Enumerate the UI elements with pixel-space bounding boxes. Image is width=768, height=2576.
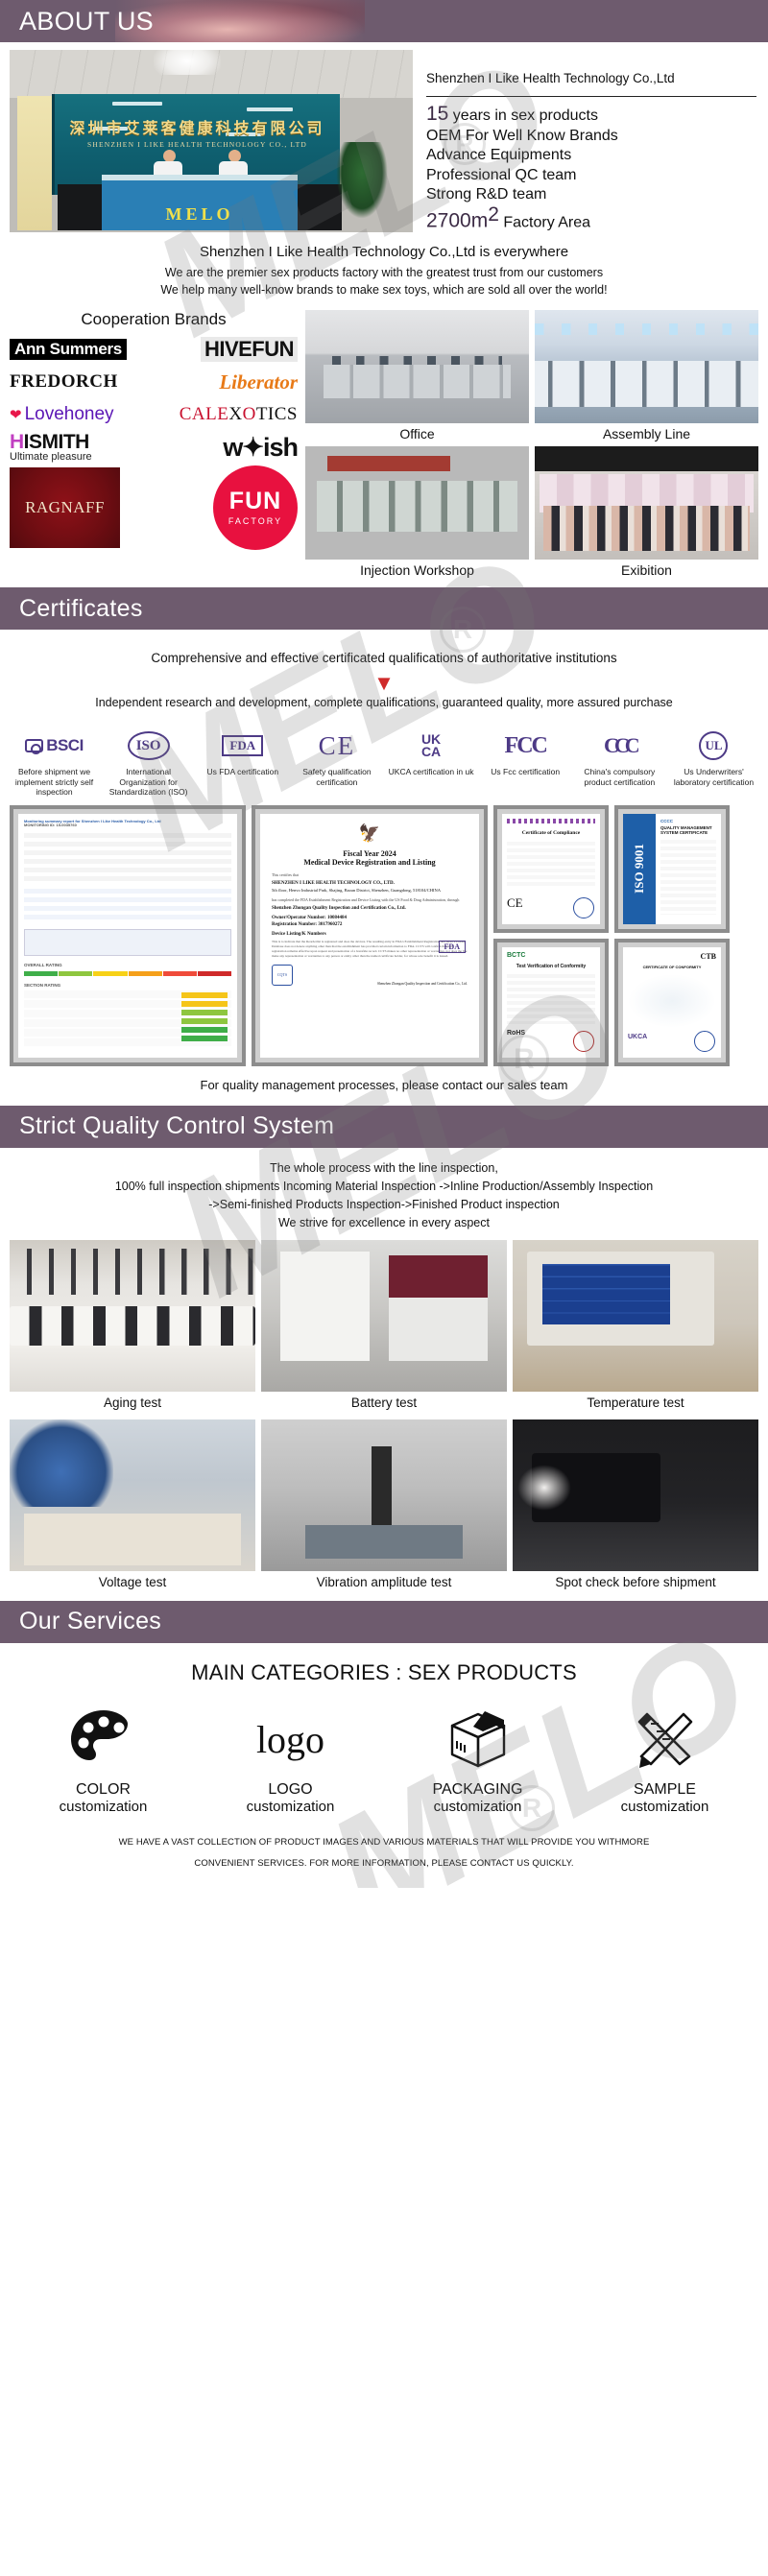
caption-aging-test: Aging test bbox=[10, 1392, 255, 1416]
office-reception-photo: 深圳市艾莱客健康科技有限公司 SHENZHEN I LIKE HEALTH TE… bbox=[10, 50, 413, 232]
highlight-2: Advance Equipments bbox=[426, 146, 768, 166]
brand-logo-lovehoney-text: Lovehoney bbox=[25, 404, 114, 425]
photo-exhibition bbox=[535, 446, 758, 560]
qc-cell-vibration: Vibration amplitude test bbox=[261, 1419, 507, 1595]
services-footer: WE HAVE A VAST COLLECTION OF PRODUCT IMA… bbox=[0, 1819, 768, 1888]
highlight-4: Strong R&D team bbox=[426, 185, 768, 205]
service-packaging-customization[interactable]: PACKAGING customization bbox=[384, 1699, 571, 1815]
iso-icon: ISO bbox=[102, 727, 195, 765]
qc-description: The whole process with the line inspecti… bbox=[0, 1148, 768, 1240]
services-footer-line2: CONVENIENT SERVICES. FOR MORE INFORMATIO… bbox=[12, 1853, 756, 1874]
services-main-categories-title: MAIN CATEGORIES : SEX PRODUCTS bbox=[0, 1643, 768, 1699]
heart-icon: ❤ bbox=[10, 406, 22, 423]
logo-text-icon: logo bbox=[197, 1699, 384, 1781]
highlight-5-area: 2700m bbox=[426, 209, 488, 231]
brand-logo-wish: w✦ish bbox=[223, 433, 298, 463]
certificate-small-column-1: Certificate of Compliance CE BCTC Test V… bbox=[493, 805, 609, 1066]
cert-icon-ul-desc: Us Underwriters' laboratory certificatio… bbox=[667, 767, 760, 787]
brand-logo-hismith: HISMITH Ultimate pleasure bbox=[10, 432, 92, 463]
fda-company-name: SHENZHEN I LIKE HEALTH TECHNOLOGY CO., L… bbox=[272, 881, 468, 886]
photo-office bbox=[305, 310, 529, 423]
factory-cell-office: Office bbox=[305, 310, 529, 441]
service-packaging-line1: PACKAGING bbox=[384, 1781, 571, 1799]
ul-icon: UL bbox=[667, 727, 760, 765]
fda-fiscal-year: Fiscal Year 2024 bbox=[270, 849, 469, 858]
caption-temperature-test: Temperature test bbox=[513, 1392, 758, 1416]
photo-vibration-test bbox=[261, 1419, 507, 1571]
palette-icon bbox=[10, 1699, 197, 1781]
eagle-icon: 🦅 bbox=[270, 823, 469, 844]
bsci-icon: BSCI bbox=[8, 727, 101, 765]
cert-icon-fda-desc: Us FDA certification bbox=[196, 767, 289, 777]
amfori-rating-bars bbox=[24, 971, 231, 976]
cert-icon-fcc: FCC Us Fcc certification bbox=[479, 727, 572, 798]
service-color-line2: customization bbox=[10, 1799, 197, 1815]
brand-logo-ragnaff: RAGNAFF bbox=[10, 467, 120, 548]
service-logo-customization[interactable]: logo LOGO customization bbox=[197, 1699, 384, 1815]
section-banner-about: ABOUT US bbox=[0, 0, 768, 42]
photo-injection-workshop bbox=[305, 446, 529, 560]
photo-aging-test bbox=[10, 1240, 255, 1392]
bctc-content: BCTC Test Verification of Conformity RoH… bbox=[502, 947, 600, 1058]
cert-icon-ccc: CCC China's compulsory product certifica… bbox=[573, 727, 666, 798]
highlight-0-text: years in sex products bbox=[448, 107, 598, 124]
highlight-5: 2700m2 Factory Area bbox=[426, 205, 768, 233]
iso9001-content: ISO 9001 CCCC QUALITY MANAGEMENT SYSTEM … bbox=[623, 814, 721, 924]
brand-logo-lovehoney: ❤ Lovehoney bbox=[10, 404, 114, 425]
cert-icon-iso: ISO International Organization for Stand… bbox=[102, 727, 195, 798]
cert-icon-bsci: BSCI Before shipment we implement strict… bbox=[8, 727, 101, 798]
services-footer-line1: WE HAVE A VAST COLLECTION OF PRODUCT IMA… bbox=[12, 1832, 756, 1853]
brand-logo-hismith-tagline: Ultimate pleasure bbox=[10, 452, 92, 463]
factory-cell-injection: Injection Workshop bbox=[305, 446, 529, 578]
qc-cell-voltage: Voltage test bbox=[10, 1419, 255, 1595]
about-tagline: Shenzhen I Like Health Technology Co.,Lt… bbox=[0, 232, 768, 264]
brand-logo-hismith-text: HISMITH bbox=[10, 432, 92, 452]
iso9001-code: ISO 9001 bbox=[632, 845, 647, 894]
certificate-ctb-conformity[interactable]: CTB CERTIFICATE OF CONFORMITY UKCA bbox=[614, 939, 730, 1066]
cert-icon-ce-desc: Safety qualification certification bbox=[290, 767, 383, 787]
about-subtext-line2: We help many well-know brands to make se… bbox=[0, 281, 768, 298]
section-title-qc: Strict Quality Control System bbox=[0, 1114, 334, 1138]
cert-icon-ccc-desc: China's compulsory product certification bbox=[573, 767, 666, 787]
chevron-down-icon: ▼ bbox=[0, 665, 768, 696]
cert-icon-iso-desc: International Organization for Standardi… bbox=[102, 767, 195, 798]
brand-logo-fun-line2: FACTORY bbox=[228, 516, 282, 526]
fda-device-listing: Device Listing/K Numbers bbox=[272, 932, 468, 937]
divider bbox=[426, 96, 756, 97]
certificates-footer: For quality management processes, please… bbox=[0, 1066, 768, 1106]
ctb-title: CERTIFICATE OF CONFORMITY bbox=[628, 965, 716, 969]
cert-icon-fcc-desc: Us Fcc certification bbox=[479, 767, 572, 777]
certification-icon-row: BSCI Before shipment we implement strict… bbox=[0, 717, 768, 798]
red-seal-icon bbox=[573, 1031, 594, 1052]
cert-icon-ukca-desc: UKCA certification in uk bbox=[385, 767, 478, 777]
section-title-certificates: Certificates bbox=[0, 597, 143, 621]
cert-icon-ukca: UKCA UKCA certification in uk bbox=[385, 727, 478, 798]
qc-cell-temperature: Temperature test bbox=[513, 1240, 758, 1416]
about-subtext: We are the premier sex products factory … bbox=[0, 264, 768, 304]
service-sample-line1: SAMPLE bbox=[571, 1781, 758, 1799]
wall-yellow-panel bbox=[17, 96, 52, 230]
section-banner-certificates: Certificates bbox=[0, 587, 768, 630]
iso9001-title: QUALITY MANAGEMENT SYSTEM CERTIFICATE bbox=[660, 825, 716, 835]
reception-desk: MELO bbox=[102, 175, 298, 230]
service-color-line1: COLOR bbox=[10, 1781, 197, 1799]
cabinet-left bbox=[58, 184, 102, 230]
amfori-section-rating: SECTION RATING bbox=[24, 984, 231, 988]
service-sample-customization[interactable]: SAMPLE customization bbox=[571, 1699, 758, 1815]
ce-icon: CE bbox=[290, 727, 383, 765]
certificates-subtext: Independent research and development, co… bbox=[0, 696, 768, 717]
brands-and-factory-block: Cooperation Brands Ann Summers HIVEFUN F… bbox=[0, 304, 768, 587]
fda-doc-title: Medical Device Registration and Listing bbox=[270, 858, 469, 867]
brand-logo-hivefun: HIVEFUN bbox=[201, 337, 298, 362]
section-title-services: Our Services bbox=[0, 1610, 161, 1634]
signage-chinese-text: 深圳市艾莱客健康科技有限公司 bbox=[55, 115, 340, 138]
amfori-overall-rating: OVERALL RATING bbox=[24, 964, 231, 967]
certificates-intro: Comprehensive and effective certificated… bbox=[0, 630, 768, 665]
certificate-small-column-2: ISO 9001 CCCC QUALITY MANAGEMENT SYSTEM … bbox=[614, 805, 730, 1066]
ukca-icon: UKCA bbox=[385, 727, 478, 765]
brand-row-3: ❤ Lovehoney CALEXOTICS bbox=[10, 398, 298, 431]
photo-temperature-test bbox=[513, 1240, 758, 1392]
pencil-ruler-icon bbox=[571, 1699, 758, 1781]
about-subtext-line1: We are the premier sex products factory … bbox=[0, 264, 768, 281]
desk-logo-text: MELO bbox=[102, 204, 298, 225]
factory-cell-assembly: Assembly Line bbox=[535, 310, 758, 441]
amfori-doc-body: Monitoring summary report for Shenzhen I… bbox=[18, 814, 237, 1054]
service-packaging-line2: customization bbox=[384, 1799, 571, 1815]
qc-line-1: The whole process with the line inspecti… bbox=[10, 1159, 758, 1178]
certificate-fda-registration[interactable]: 🦅 Fiscal Year 2024 Medical Device Regist… bbox=[252, 805, 488, 1066]
page-root: ABOUT US 深圳市艾莱客健康科技有限公司 SHENZHEN I LIKE … bbox=[0, 0, 768, 1888]
caption-spot-check: Spot check before shipment bbox=[513, 1571, 758, 1595]
caption-assembly-line: Assembly Line bbox=[535, 423, 758, 441]
certificate-bctc-test[interactable]: BCTC Test Verification of Conformity RoH… bbox=[493, 939, 609, 1066]
qc-cell-battery: Battery test bbox=[261, 1240, 507, 1416]
brand-row-5: RAGNAFF FUN FACTORY bbox=[10, 464, 298, 552]
brand-logo-calexotics: CALEXOTICS bbox=[180, 404, 298, 425]
brand-logo-fredorch: FREDORCH bbox=[10, 371, 118, 393]
caption-vibration-test: Vibration amplitude test bbox=[261, 1571, 507, 1595]
caption-battery-test: Battery test bbox=[261, 1392, 507, 1416]
brand-logo-fun-line1: FUN bbox=[229, 489, 281, 513]
seal-icon bbox=[573, 897, 594, 918]
fda-owner-number: Owner/Operator Number: 10084484 bbox=[272, 916, 468, 920]
photo-voltage-test bbox=[10, 1419, 255, 1571]
caption-exhibition: Exibition bbox=[535, 560, 758, 578]
brand-row-1: Ann Summers HIVEFUN bbox=[10, 333, 298, 366]
signage-english-text: SHENZHEN I LIKE HEALTH TECHNOLOGY CO., L… bbox=[55, 140, 340, 149]
service-logo-line2: customization bbox=[197, 1799, 384, 1815]
highlight-3: Professional QC team bbox=[426, 166, 768, 186]
cert-icon-ce: CE Safety qualification certification bbox=[290, 727, 383, 798]
fcc-icon: FCC bbox=[479, 727, 572, 765]
cert-icon-bsci-desc: Before shipment we implement strictly se… bbox=[8, 767, 101, 798]
fda-mark-icon: FDA bbox=[439, 941, 466, 953]
service-color-customization[interactable]: COLOR customization bbox=[10, 1699, 197, 1815]
about-text-column: Shenzhen I Like Health Technology Co.,Lt… bbox=[413, 50, 768, 232]
services-grid: COLOR customization logo LOGO customizat… bbox=[0, 1699, 768, 1819]
photo-spot-check bbox=[513, 1419, 758, 1571]
brand-logo-fun-factory: FUN FACTORY bbox=[213, 465, 298, 550]
qc-line-4: We strive for excellence in every aspect bbox=[10, 1214, 758, 1232]
bctc-brand: BCTC bbox=[507, 952, 595, 959]
qc-photo-grid: Aging test Battery test Temperature test… bbox=[0, 1240, 768, 1601]
ccc-icon: CCC bbox=[573, 727, 666, 765]
fda-icon: FDA bbox=[196, 727, 289, 765]
compliance-title: Certificate of Compliance bbox=[507, 830, 595, 836]
service-sample-line2: customization bbox=[571, 1799, 758, 1815]
cert-icon-ul: UL Us Underwriters' laboratory certifica… bbox=[667, 727, 760, 798]
cooperation-brands-panel: Cooperation Brands Ann Summers HIVEFUN F… bbox=[10, 310, 298, 578]
service-logo-line1: LOGO bbox=[197, 1781, 384, 1799]
caption-voltage-test: Voltage test bbox=[10, 1571, 255, 1595]
caption-office: Office bbox=[305, 423, 529, 441]
fda-company-address: 5th floor, Henvo Industrial Park, Shajin… bbox=[272, 888, 468, 893]
company-name: Shenzhen I Like Health Technology Co.,Lt… bbox=[426, 71, 768, 85]
section-banner-services: Our Services bbox=[0, 1601, 768, 1643]
plant-decoration bbox=[336, 142, 388, 219]
ceiling-light bbox=[154, 50, 221, 75]
caption-injection-workshop: Injection Workshop bbox=[305, 560, 529, 578]
ctb-brand: CTB bbox=[628, 952, 716, 961]
logo-word-glyph: logo bbox=[256, 1721, 324, 1759]
brand-logo-liberator: Liberator bbox=[219, 370, 298, 394]
highlight-0: 15 years in sex products bbox=[426, 105, 768, 127]
certificate-amfori-content: Monitoring summary report for Shenzhen I… bbox=[18, 814, 237, 1058]
highlight-5-text: Factory Area bbox=[499, 214, 590, 230]
certificate-fda-content: 🦅 Fiscal Year 2024 Medical Device Regist… bbox=[260, 814, 479, 1058]
cqts-seal-icon: CQTS bbox=[272, 965, 293, 986]
certificate-amfori-bsci[interactable]: Monitoring summary report for Shenzhen I… bbox=[10, 805, 246, 1066]
certificate-iso-9001[interactable]: ISO 9001 CCCC QUALITY MANAGEMENT SYSTEM … bbox=[614, 805, 730, 933]
certificate-of-compliance[interactable]: Certificate of Compliance CE bbox=[493, 805, 609, 933]
qc-cell-spot-check: Spot check before shipment bbox=[513, 1419, 758, 1595]
bctc-title: Test Verification of Conformity bbox=[507, 964, 595, 969]
highlight-5-sup: 2 bbox=[488, 203, 499, 226]
compliance-content: Certificate of Compliance CE bbox=[502, 814, 600, 924]
section-title-about: ABOUT US bbox=[0, 9, 154, 35]
bsci-label: BSCI bbox=[46, 736, 84, 755]
amfori-doc-id: MONITORING ID: 15-0035760 bbox=[24, 823, 231, 827]
factory-cell-exhibition: Exibition bbox=[535, 446, 758, 578]
ctb-seal-icon bbox=[694, 1031, 715, 1052]
ccc-mark-icon: CCCC bbox=[660, 819, 716, 823]
section-banner-qc: Strict Quality Control System bbox=[0, 1106, 768, 1148]
fda-registration-number: Registration Number: 3017960272 bbox=[272, 922, 468, 927]
qc-cell-aging: Aging test bbox=[10, 1240, 255, 1416]
brand-row-4: HISMITH Ultimate pleasure w✦ish bbox=[10, 431, 298, 464]
about-top-block: 深圳市艾莱客健康科技有限公司 SHENZHEN I LIKE HEALTH TE… bbox=[0, 42, 768, 232]
box-icon bbox=[384, 1699, 571, 1781]
brands-heading: Cooperation Brands bbox=[10, 310, 298, 329]
ctb-content: CTB CERTIFICATE OF CONFORMITY UKCA bbox=[623, 947, 721, 1058]
brand-logo-ann-summers: Ann Summers bbox=[10, 339, 127, 360]
factory-photo-grid: Office Assembly Line Injection Workshop … bbox=[305, 310, 758, 578]
qc-line-3: ->Semi-finished Products Inspection->Fin… bbox=[10, 1196, 758, 1214]
highlight-1: OEM For Well Know Brands bbox=[426, 127, 768, 147]
cert-icon-fda: FDA Us FDA certification bbox=[196, 727, 289, 798]
photo-assembly-line bbox=[535, 310, 758, 423]
certificate-gallery: Monitoring summary report for Shenzhen I… bbox=[0, 798, 768, 1066]
photo-battery-test bbox=[261, 1240, 507, 1392]
qc-line-2: 100% full inspection shipments Incoming … bbox=[10, 1178, 758, 1196]
brand-row-2: FREDORCH Liberator bbox=[10, 366, 298, 398]
highlight-0-number: 15 bbox=[426, 103, 448, 125]
